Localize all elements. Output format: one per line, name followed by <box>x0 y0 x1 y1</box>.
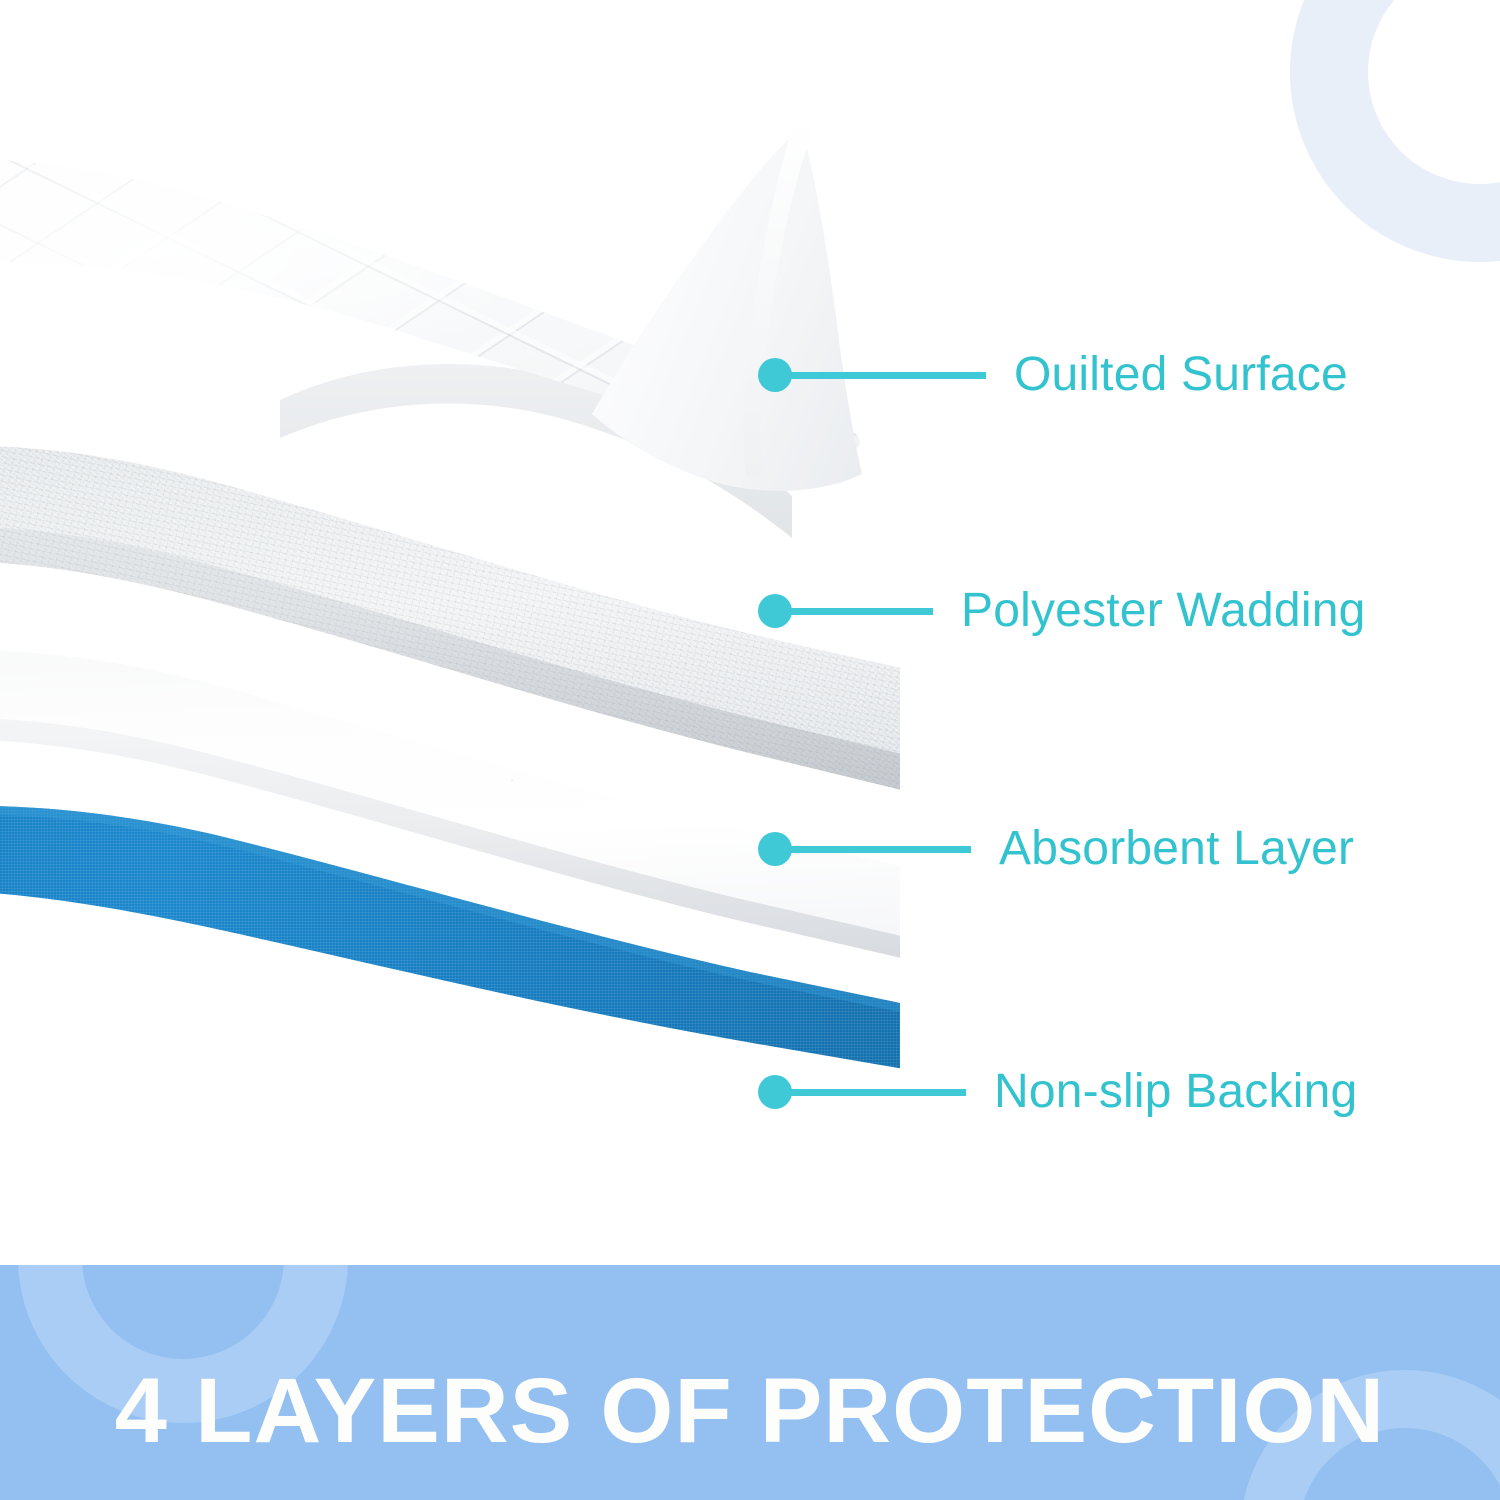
callout-dot-icon <box>758 358 792 392</box>
callout-leader-line <box>790 372 986 379</box>
banner-headline: 4 LAYERS OF PROTECTION <box>0 1365 1500 1457</box>
quilted-surface-curl <box>500 118 900 498</box>
callout-leader-line <box>790 608 933 615</box>
callout-label: Polyester Wadding <box>961 587 1366 635</box>
bottom-banner: 4 LAYERS OF PROTECTION <box>0 1265 1500 1500</box>
callout-quilted-surface[interactable]: Ouilted Surface <box>758 351 1348 399</box>
callout-dot-icon <box>758 832 792 866</box>
ring-decoration-icon <box>1290 0 1500 262</box>
callout-leader-line <box>790 846 971 853</box>
callout-absorbent-layer[interactable]: Absorbent Layer <box>758 825 1354 873</box>
callout-non-slip-backing[interactable]: Non-slip Backing <box>758 1068 1357 1116</box>
callout-dot-icon <box>758 1075 792 1109</box>
callout-dot-icon <box>758 594 792 628</box>
callout-leader-line <box>790 1089 966 1096</box>
infographic-canvas: Ouilted Surface Polyester Wadding Absorb… <box>0 0 1500 1500</box>
callout-label: Ouilted Surface <box>1014 351 1348 399</box>
callout-polyester-wadding[interactable]: Polyester Wadding <box>758 587 1366 635</box>
callout-label: Non-slip Backing <box>994 1068 1357 1116</box>
callout-label: Absorbent Layer <box>999 825 1354 873</box>
